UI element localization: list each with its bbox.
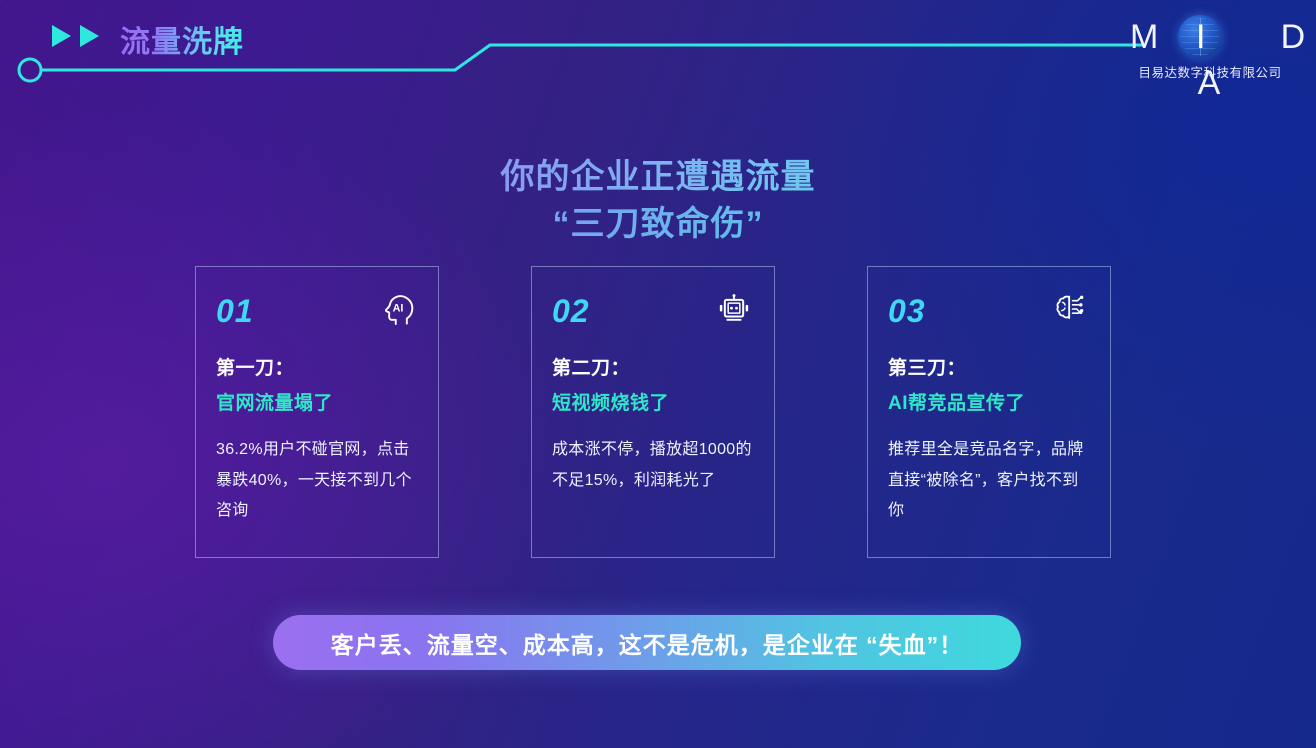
double-triangle-right-icon (52, 25, 99, 47)
card-header: 03 (888, 289, 1090, 343)
pain-point-card-2[interactable]: 02 第二刀： 短视频烧钱了 成本涨不停，播放超1000的不足15%，利润耗光了 (531, 266, 775, 558)
card-label: 第二刀： (552, 353, 754, 380)
card-headline: AI帮竞品宣传了 (888, 388, 1090, 415)
page-title: 你的企业正遭遇流量 “三刀致命伤” (0, 154, 1316, 248)
robot-head-icon (714, 289, 754, 329)
card-number: 03 (888, 289, 926, 327)
card-body-text: 成本涨不停，播放超1000的不足15%，利润耗光了 (552, 435, 754, 496)
card-headline: 官网流量塌了 (216, 388, 418, 415)
svg-text:AI: AI (393, 303, 404, 315)
card-header: 01 AI (216, 289, 418, 343)
card-number: 02 (552, 289, 590, 327)
card-number: 01 (216, 289, 254, 327)
summary-banner-text: 客户丢、流量空、成本高，这不是危机，是企业在 “失血”！ (331, 626, 963, 660)
card-label: 第三刀： (888, 353, 1090, 380)
ai-head-icon: AI (378, 289, 418, 329)
card-label: 第一刀： (216, 353, 418, 380)
brain-circuit-icon (1050, 289, 1090, 329)
headline-line-2: “三刀致命伤” (0, 201, 1316, 248)
brand-logo: M U D A I 目易达数字科技有限公司 (1122, 14, 1298, 81)
card-headline: 短视频烧钱了 (552, 388, 754, 415)
pain-point-card-3[interactable]: 03 (867, 266, 1111, 558)
pain-point-card-list: 01 AI 第一刀： 官网流量塌了 36.2%用户不碰官网，点击暴跌40%，一天… (195, 266, 1111, 558)
pain-point-card-1[interactable]: 01 AI 第一刀： 官网流量塌了 36.2%用户不碰官网，点击暴跌40%，一天… (195, 266, 439, 558)
triangle-2-icon (80, 25, 99, 47)
logo-letter-i: I (1196, 14, 1204, 60)
headline-line-1: 你的企业正遭遇流量 (0, 154, 1316, 201)
section-title: 流量洗牌 (120, 17, 244, 61)
logo-mark: M U D A I (1122, 14, 1298, 60)
slide-canvas: 流量洗牌 M U D A I 目易达数字科技有限公司 你的企业正遭遇流量 “三刀… (0, 0, 1316, 748)
triangle-1-icon (52, 25, 71, 47)
summary-banner[interactable]: 客户丢、流量空、成本高，这不是危机，是企业在 “失血”！ (273, 615, 1021, 670)
card-header: 02 (552, 289, 754, 343)
card-body-text: 36.2%用户不碰官网，点击暴跌40%，一天接不到几个咨询 (216, 435, 418, 527)
card-body-text: 推荐里全是竞品名字，品牌直接“被除名”，客户找不到你 (888, 435, 1090, 527)
